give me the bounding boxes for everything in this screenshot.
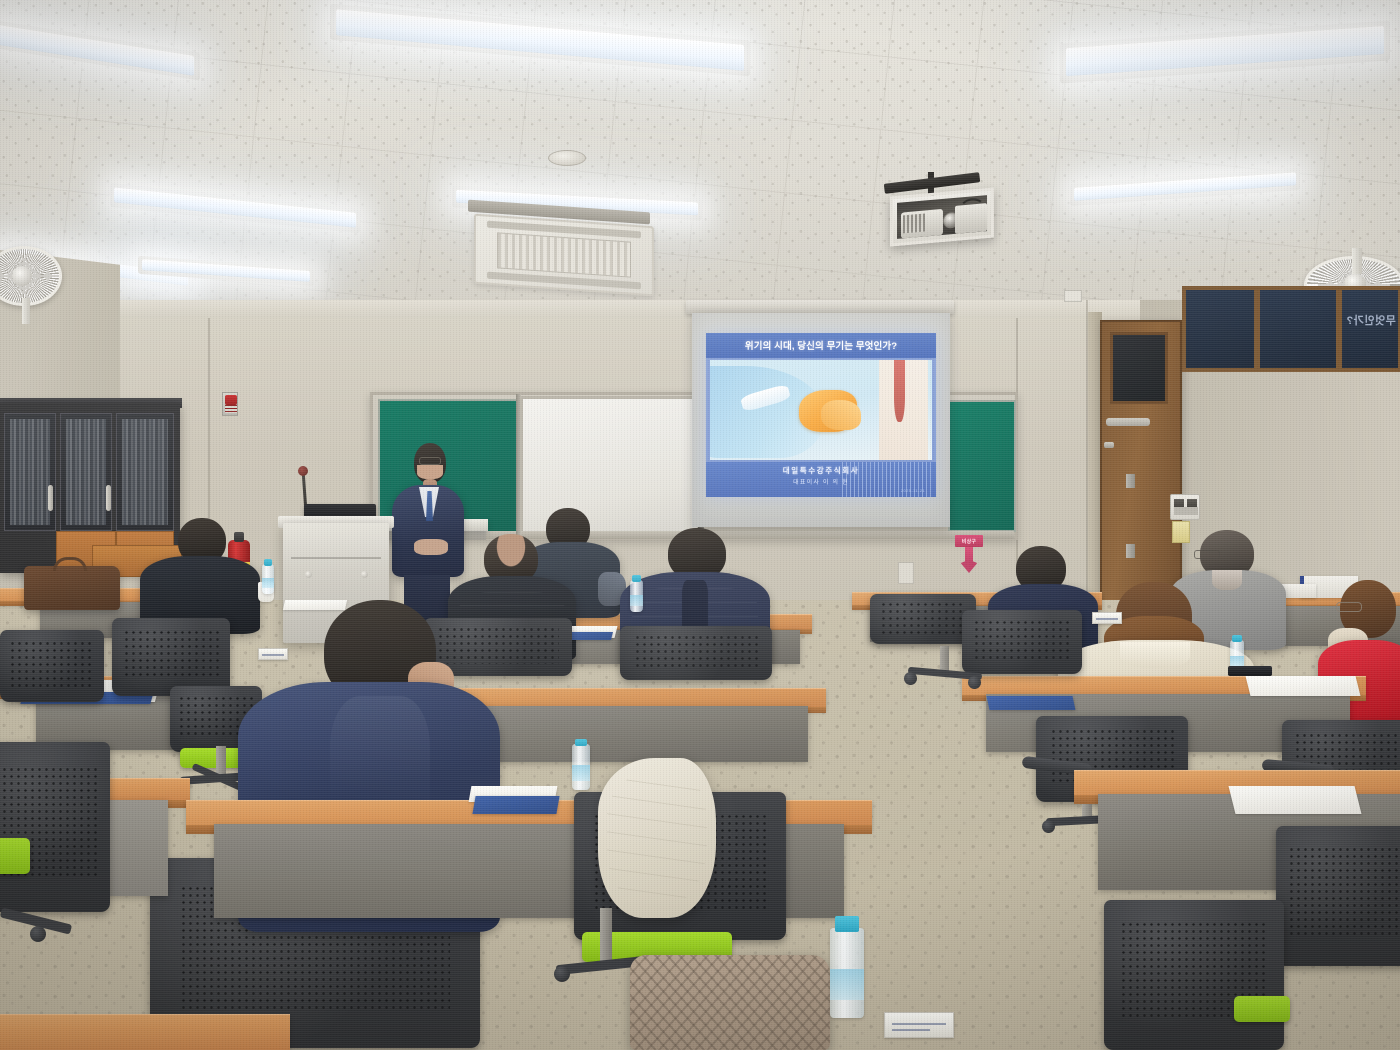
exit-sign-label: 비상구 xyxy=(962,538,976,545)
wall-switch-plate[interactable] xyxy=(1064,290,1082,302)
cabinet-handle[interactable] xyxy=(106,485,111,511)
slide-presenter-name: 대표이사 이 의 현 xyxy=(709,477,933,486)
projection-screen: 위기의 시대, 당신의 무기는 무엇인가? 대일특수강주식회사 대표이사 이 의… xyxy=(692,313,950,527)
presenter-face xyxy=(417,465,443,479)
cream-puffer-jacket xyxy=(598,758,716,918)
glasses-icon xyxy=(1336,602,1362,612)
slide-title: 위기의 시대, 당신의 무기는 무엇인가? xyxy=(710,338,932,352)
ceiling-ac-cassette xyxy=(474,214,654,297)
brown-leather-bag xyxy=(24,566,120,610)
door-window xyxy=(1110,332,1168,404)
door-hinge xyxy=(1126,544,1135,558)
transom-reflection-text: 무엇인가? xyxy=(1346,312,1396,328)
door-handle[interactable] xyxy=(1104,442,1114,448)
mesh-back-chair[interactable] xyxy=(0,630,104,702)
lectern-knob[interactable] xyxy=(305,571,312,578)
door-hinge xyxy=(1126,474,1135,488)
slide-date: 2025-11-21 xyxy=(709,488,933,493)
water-bottle xyxy=(572,744,590,790)
name-placard xyxy=(1092,612,1122,624)
slide-company-name: 대일특수강주식회사 xyxy=(709,465,933,476)
slide-footer: 대일특수강주식회사 대표이사 이 의 현 2025-11-21 xyxy=(706,462,936,497)
paper-handout xyxy=(1246,676,1361,696)
water-bottle xyxy=(262,564,274,594)
mesh-back-chair[interactable] xyxy=(620,626,772,680)
mesh-back-chair[interactable] xyxy=(1104,900,1284,1050)
projector xyxy=(890,187,994,246)
wall-outlet[interactable] xyxy=(898,562,914,584)
glasses-icon xyxy=(1194,550,1220,559)
fire-alarm-icon xyxy=(222,392,238,416)
slide-title-bar: 위기의 시대, 당신의 무기는 무엇인가? xyxy=(706,333,936,358)
transom-window xyxy=(1256,286,1340,372)
slide-image-handshake xyxy=(710,360,932,460)
presentation-slide: 위기의 시대, 당신의 무기는 무엇인가? 대일특수강주식회사 대표이사 이 의… xyxy=(706,333,936,497)
lectern-knob[interactable] xyxy=(361,571,368,578)
chair-base xyxy=(904,646,984,700)
smartphone xyxy=(1228,666,1272,676)
microphone-icon xyxy=(298,466,308,476)
smoke-detector-icon xyxy=(548,150,586,166)
cabinet-door[interactable] xyxy=(4,413,56,531)
coat-collar xyxy=(1120,642,1190,668)
water-bottle xyxy=(830,928,864,1018)
water-bottle xyxy=(630,580,643,612)
cabinet-door[interactable] xyxy=(116,413,174,531)
blue-folder xyxy=(987,696,1076,710)
mesh-back-chair[interactable] xyxy=(870,594,976,644)
glasses-icon xyxy=(419,457,441,465)
paper-handout xyxy=(1229,786,1362,814)
blue-folder xyxy=(472,796,559,814)
transom-window-row: 무엇인가? xyxy=(1182,286,1400,372)
green-chalkboard xyxy=(948,400,1016,532)
name-placard xyxy=(884,1012,954,1038)
seminar-room-photo: 위기의 시대, 당신의 무기는 무엇인가? 대일특수강주식회사 대표이사 이 의… xyxy=(0,0,1400,1050)
knit-tote-bag xyxy=(630,955,830,1050)
chair-base xyxy=(0,876,76,972)
wall-control-panel[interactable] xyxy=(1170,494,1200,520)
wall-fan xyxy=(0,240,70,312)
mesh-back-chair[interactable] xyxy=(112,618,230,696)
transom-window xyxy=(1182,286,1258,372)
presenter-hands xyxy=(414,539,448,555)
projection-screen-case xyxy=(686,300,954,314)
cabinet-handle[interactable] xyxy=(48,485,53,511)
transom-window: 무엇인가? xyxy=(1338,286,1400,372)
door-closer xyxy=(1106,418,1150,426)
training-table xyxy=(0,1014,290,1050)
emergency-exit-sign: 비상구 xyxy=(955,535,983,579)
cabinet-door[interactable] xyxy=(60,413,112,531)
mesh-back-chair[interactable] xyxy=(1276,826,1400,966)
